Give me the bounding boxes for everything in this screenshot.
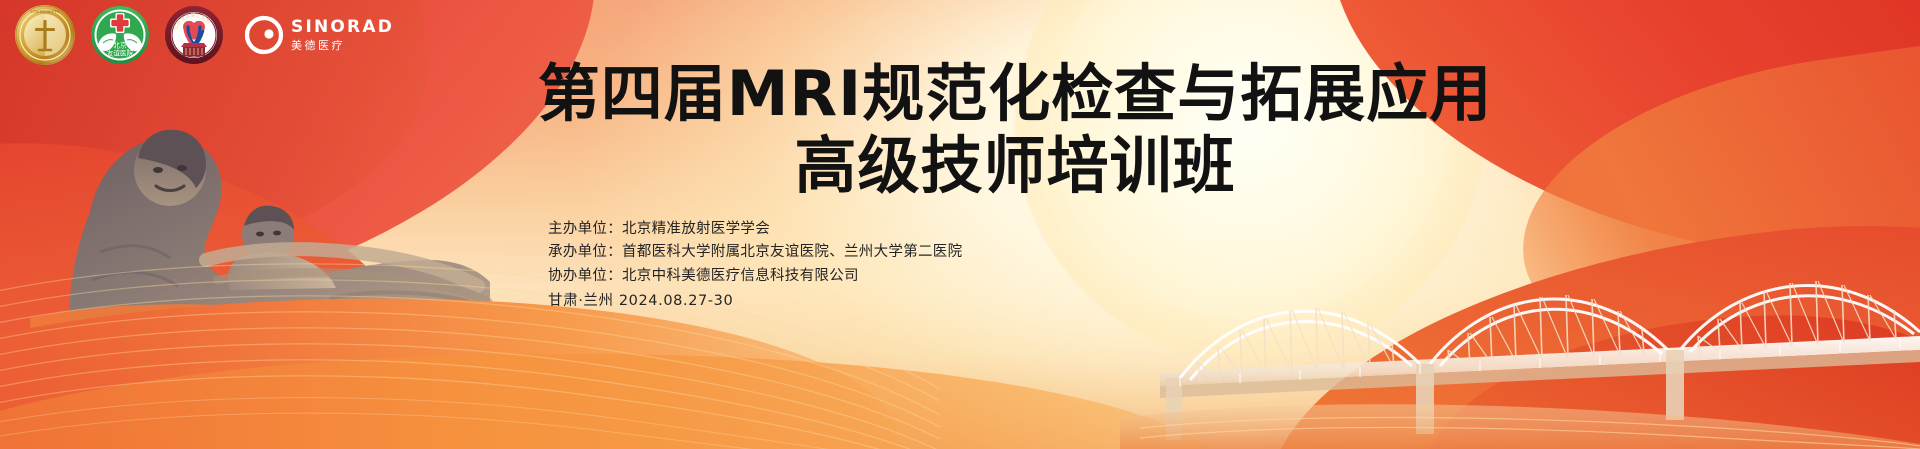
event-location-date: 甘肃·兰州 2024.08.27-30 xyxy=(548,290,962,313)
title-block: 第四届MRI规范化检查与拓展应用 高级技师培训班 xyxy=(0,62,1920,199)
sinorad-brand-cn: 美德医疗 xyxy=(291,40,394,51)
svg-text:友谊医院: 友谊医院 xyxy=(107,49,134,58)
svg-text:北京精准放射医学学会: 北京精准放射医学学会 xyxy=(30,9,60,14)
title-line-1: 第四届MRI规范化检查与拓展应用 xyxy=(110,62,1920,126)
organizer-line-undertaker: 承办单位：首都医科大学附属北京友谊医院、兰州大学第二医院 xyxy=(548,241,962,264)
sinorad-mark-icon xyxy=(244,15,284,55)
sinorad-logo: SINORAD 美德医疗 xyxy=(244,15,394,55)
organizer-line-coorganizer: 协办单位：北京中科美德医疗信息科技有限公司 xyxy=(548,265,962,288)
hospital-crest-emblem-icon: 兰州大学第二医院 xyxy=(164,5,224,65)
conference-banner: 北京精准放射医学学会 xyxy=(0,0,1920,449)
organizer-line-host: 主办单位：北京精准放射医学学会 xyxy=(548,218,962,241)
svg-text:北京: 北京 xyxy=(113,41,127,50)
logo-row: 北京精准放射医学学会 xyxy=(14,4,394,66)
gold-medal-emblem-icon: 北京精准放射医学学会 xyxy=(14,4,76,66)
beijing-friendship-hospital-emblem-icon: 北京 友谊医院 xyxy=(90,5,150,65)
organizer-info-block: 主办单位：北京精准放射医学学会 承办单位：首都医科大学附属北京友谊医院、兰州大学… xyxy=(548,218,962,314)
title-line-2: 高级技师培训班 xyxy=(110,134,1920,198)
sinorad-brand-en: SINORAD xyxy=(291,19,394,36)
